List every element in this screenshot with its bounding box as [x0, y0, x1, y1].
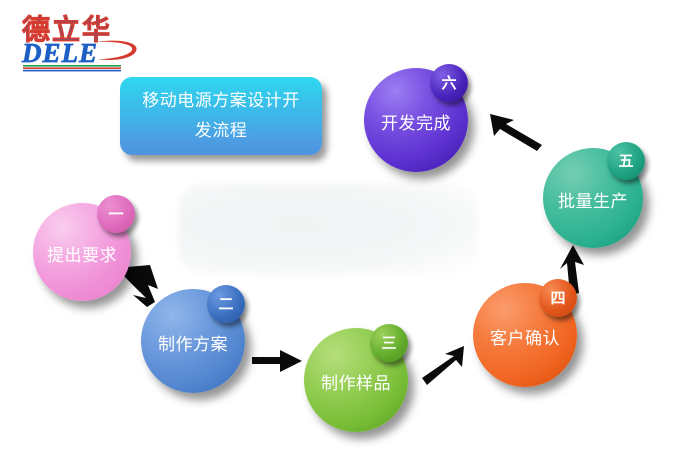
flow-step-2-label: 制作方案	[158, 330, 228, 355]
flow-step-4[interactable]: 客户确认 四	[473, 283, 577, 387]
flow-step-2-number: 二	[218, 297, 233, 312]
title-line-2: 发流程	[195, 121, 248, 141]
flow-step-4-number: 四	[550, 291, 565, 306]
flow-step-4-badge: 四	[539, 279, 577, 317]
flow-step-5[interactable]: 批量生产 五	[543, 148, 643, 248]
diagram-title-text: 移动电源方案设计开 发流程	[142, 86, 300, 146]
connector-arrow-5-to-6	[484, 112, 546, 152]
flow-step-2[interactable]: 制作方案 二	[141, 289, 245, 393]
title-line-1: 移动电源方案设计开	[142, 91, 300, 111]
flow-step-4-label: 客户确认	[490, 324, 560, 349]
flow-step-3-label: 制作样品	[321, 369, 391, 394]
flowchart-canvas: 德立华 DELE 移动电源方案设计开 发流程	[0, 0, 685, 450]
flow-step-3-number: 三	[381, 336, 396, 351]
background-watermark	[178, 183, 478, 275]
flow-step-2-badge: 二	[207, 285, 245, 323]
flow-step-6[interactable]: 开发完成 六	[364, 68, 468, 172]
flow-step-6-number: 六	[441, 76, 456, 91]
flow-step-6-label: 开发完成	[381, 109, 451, 134]
flow-step-1-badge: 一	[97, 195, 135, 233]
connector-arrow-3-to-4	[420, 344, 478, 390]
company-logo: 德立华 DELE	[14, 8, 154, 68]
flow-step-3-badge: 三	[370, 324, 408, 362]
flow-step-5-label: 批量生产	[558, 187, 628, 212]
flow-step-1-number: 一	[108, 207, 123, 222]
logo-rule-lines-icon	[23, 65, 121, 72]
flow-step-3[interactable]: 制作样品 三	[304, 328, 408, 432]
logo-swoosh-icon	[92, 39, 140, 62]
connector-arrow-2-to-3	[252, 348, 304, 374]
flow-step-5-number: 五	[618, 154, 633, 169]
flow-step-1-label: 提出要求	[47, 241, 117, 266]
diagram-title-box: 移动电源方案设计开 发流程	[120, 77, 322, 155]
flow-step-1[interactable]: 提出要求 一	[33, 203, 131, 301]
flow-step-5-badge: 五	[607, 142, 645, 180]
flow-step-6-badge: 六	[430, 64, 468, 102]
